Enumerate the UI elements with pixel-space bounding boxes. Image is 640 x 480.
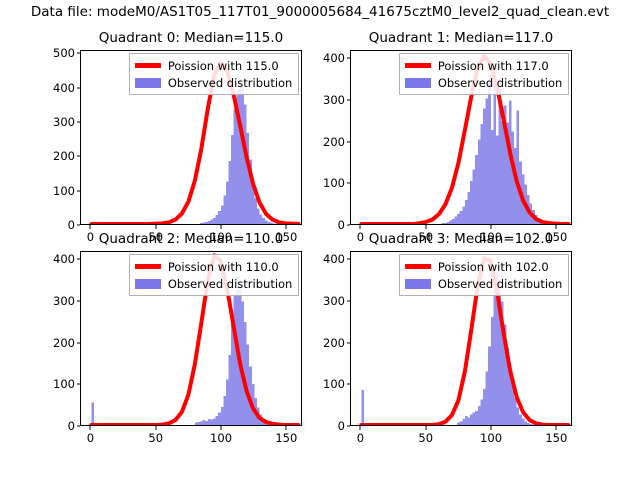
x-tick-label: 50 — [418, 431, 433, 445]
x-tick-mark — [155, 426, 156, 430]
x-tick-label: 100 — [480, 431, 502, 445]
subplot-quadrant-3: Quadrant 3: Median=102.0 Poission with 1… — [350, 251, 572, 426]
legend-quadrant-2: Poission with 110.0 Observed distributio… — [129, 254, 300, 296]
y-tick-mark — [77, 190, 81, 191]
x-tick-mark — [221, 426, 222, 430]
x-tick-mark — [556, 426, 557, 430]
y-tick-mark — [347, 301, 351, 302]
y-tick-mark — [77, 225, 81, 226]
legend-entry-observed: Observed distribution — [405, 75, 563, 90]
y-tick-mark — [347, 141, 351, 142]
patch-swatch-icon — [405, 279, 431, 289]
y-tick-label: 400 — [323, 51, 345, 65]
legend-entry-poisson: Poission with 117.0 — [405, 58, 563, 73]
subplot-quadrant-0: Quadrant 0: Median=115.0 Poission with 1… — [80, 50, 302, 225]
subplot-title-quadrant-1: Quadrant 1: Median=117.0 — [350, 30, 572, 46]
y-tick-label: 0 — [68, 218, 75, 232]
subplot-title-quadrant-2: Quadrant 2: Median=110.0 — [80, 231, 302, 247]
legend-label-poisson: Poission with 117.0 — [438, 59, 549, 73]
y-tick-mark — [347, 183, 351, 184]
x-tick-mark — [425, 225, 426, 229]
x-tick-mark — [286, 426, 287, 430]
legend-quadrant-3: Poission with 102.0 Observed distributio… — [399, 254, 570, 296]
legend-label-poisson: Poission with 110.0 — [168, 260, 279, 274]
y-tick-label: 0 — [338, 419, 345, 433]
legend-label-observed: Observed distribution — [438, 277, 563, 291]
y-tick-label: 400 — [53, 81, 75, 95]
legend-entry-observed: Observed distribution — [405, 276, 563, 291]
subplot-title-quadrant-3: Quadrant 3: Median=102.0 — [350, 231, 572, 247]
subplot-quadrant-2: Quadrant 2: Median=110.0 Poission with 1… — [80, 251, 302, 426]
x-tick-mark — [360, 426, 361, 430]
y-tick-label: 100 — [53, 377, 75, 391]
x-tick-mark — [491, 225, 492, 229]
y-tick-mark — [77, 156, 81, 157]
subplot-quadrant-1: Quadrant 1: Median=117.0 Poission with 1… — [350, 50, 572, 225]
legend-quadrant-0: Poission with 115.0 Observed distributio… — [129, 53, 300, 95]
y-tick-label: 200 — [323, 336, 345, 350]
y-tick-label: 300 — [323, 294, 345, 308]
y-tick-mark — [77, 426, 81, 427]
x-tick-mark — [90, 426, 91, 430]
y-tick-mark — [77, 87, 81, 88]
legend-entry-poisson: Poission with 110.0 — [135, 259, 293, 274]
y-tick-label: 0 — [338, 218, 345, 232]
y-tick-label: 100 — [323, 377, 345, 391]
x-tick-mark — [491, 426, 492, 430]
x-tick-mark — [425, 426, 426, 430]
line-swatch-icon — [135, 264, 161, 268]
figure-suptitle: Data file: modeM0/AS1T05_117T01_90000056… — [31, 4, 609, 20]
y-tick-mark — [77, 259, 81, 260]
x-tick-label: 100 — [210, 431, 232, 445]
patch-swatch-icon — [405, 78, 431, 88]
y-tick-mark — [347, 384, 351, 385]
y-tick-mark — [77, 342, 81, 343]
line-swatch-icon — [135, 63, 161, 67]
x-tick-mark — [556, 225, 557, 229]
y-tick-mark — [347, 426, 351, 427]
legend-quadrant-1: Poission with 117.0 Observed distributio… — [399, 53, 570, 95]
y-tick-label: 400 — [53, 252, 75, 266]
legend-entry-observed: Observed distribution — [135, 75, 293, 90]
y-tick-label: 200 — [53, 336, 75, 350]
y-tick-label: 500 — [53, 46, 75, 60]
y-tick-mark — [347, 259, 351, 260]
y-tick-label: 0 — [68, 419, 75, 433]
legend-label-observed: Observed distribution — [438, 76, 563, 90]
legend-label-poisson: Poission with 115.0 — [168, 59, 279, 73]
patch-swatch-icon — [135, 78, 161, 88]
x-tick-mark — [286, 225, 287, 229]
x-tick-mark — [155, 225, 156, 229]
x-tick-mark — [221, 225, 222, 229]
matplotlib-figure: Data file: modeM0/AS1T05_117T01_90000056… — [0, 0, 640, 480]
legend-entry-poisson: Poission with 102.0 — [405, 259, 563, 274]
x-tick-label: 0 — [357, 431, 364, 445]
y-tick-mark — [77, 301, 81, 302]
y-tick-label: 300 — [323, 93, 345, 107]
legend-label-observed: Observed distribution — [168, 76, 293, 90]
subplot-title-quadrant-0: Quadrant 0: Median=115.0 — [80, 30, 302, 46]
y-tick-mark — [347, 225, 351, 226]
x-tick-label: 0 — [87, 431, 94, 445]
legend-label-poisson: Poission with 102.0 — [438, 260, 549, 274]
legend-entry-poisson: Poission with 115.0 — [135, 58, 293, 73]
x-tick-mark — [360, 225, 361, 229]
y-tick-label: 100 — [323, 176, 345, 190]
histogram-bars — [200, 78, 280, 224]
x-tick-label: 50 — [148, 431, 163, 445]
y-tick-mark — [347, 100, 351, 101]
patch-swatch-icon — [135, 279, 161, 289]
y-tick-mark — [77, 122, 81, 123]
y-tick-mark — [77, 53, 81, 54]
y-tick-label: 400 — [323, 252, 345, 266]
x-tick-label: 150 — [545, 431, 567, 445]
y-tick-mark — [347, 342, 351, 343]
y-tick-mark — [347, 58, 351, 59]
legend-entry-observed: Observed distribution — [135, 276, 293, 291]
legend-label-observed: Observed distribution — [168, 277, 293, 291]
y-tick-mark — [77, 384, 81, 385]
x-tick-mark — [90, 225, 91, 229]
y-tick-label: 100 — [53, 184, 75, 198]
line-swatch-icon — [405, 63, 431, 67]
y-tick-label: 200 — [53, 149, 75, 163]
y-tick-label: 200 — [323, 135, 345, 149]
line-swatch-icon — [405, 264, 431, 268]
x-tick-label: 150 — [275, 431, 297, 445]
y-tick-label: 300 — [53, 294, 75, 308]
y-tick-label: 300 — [53, 115, 75, 129]
